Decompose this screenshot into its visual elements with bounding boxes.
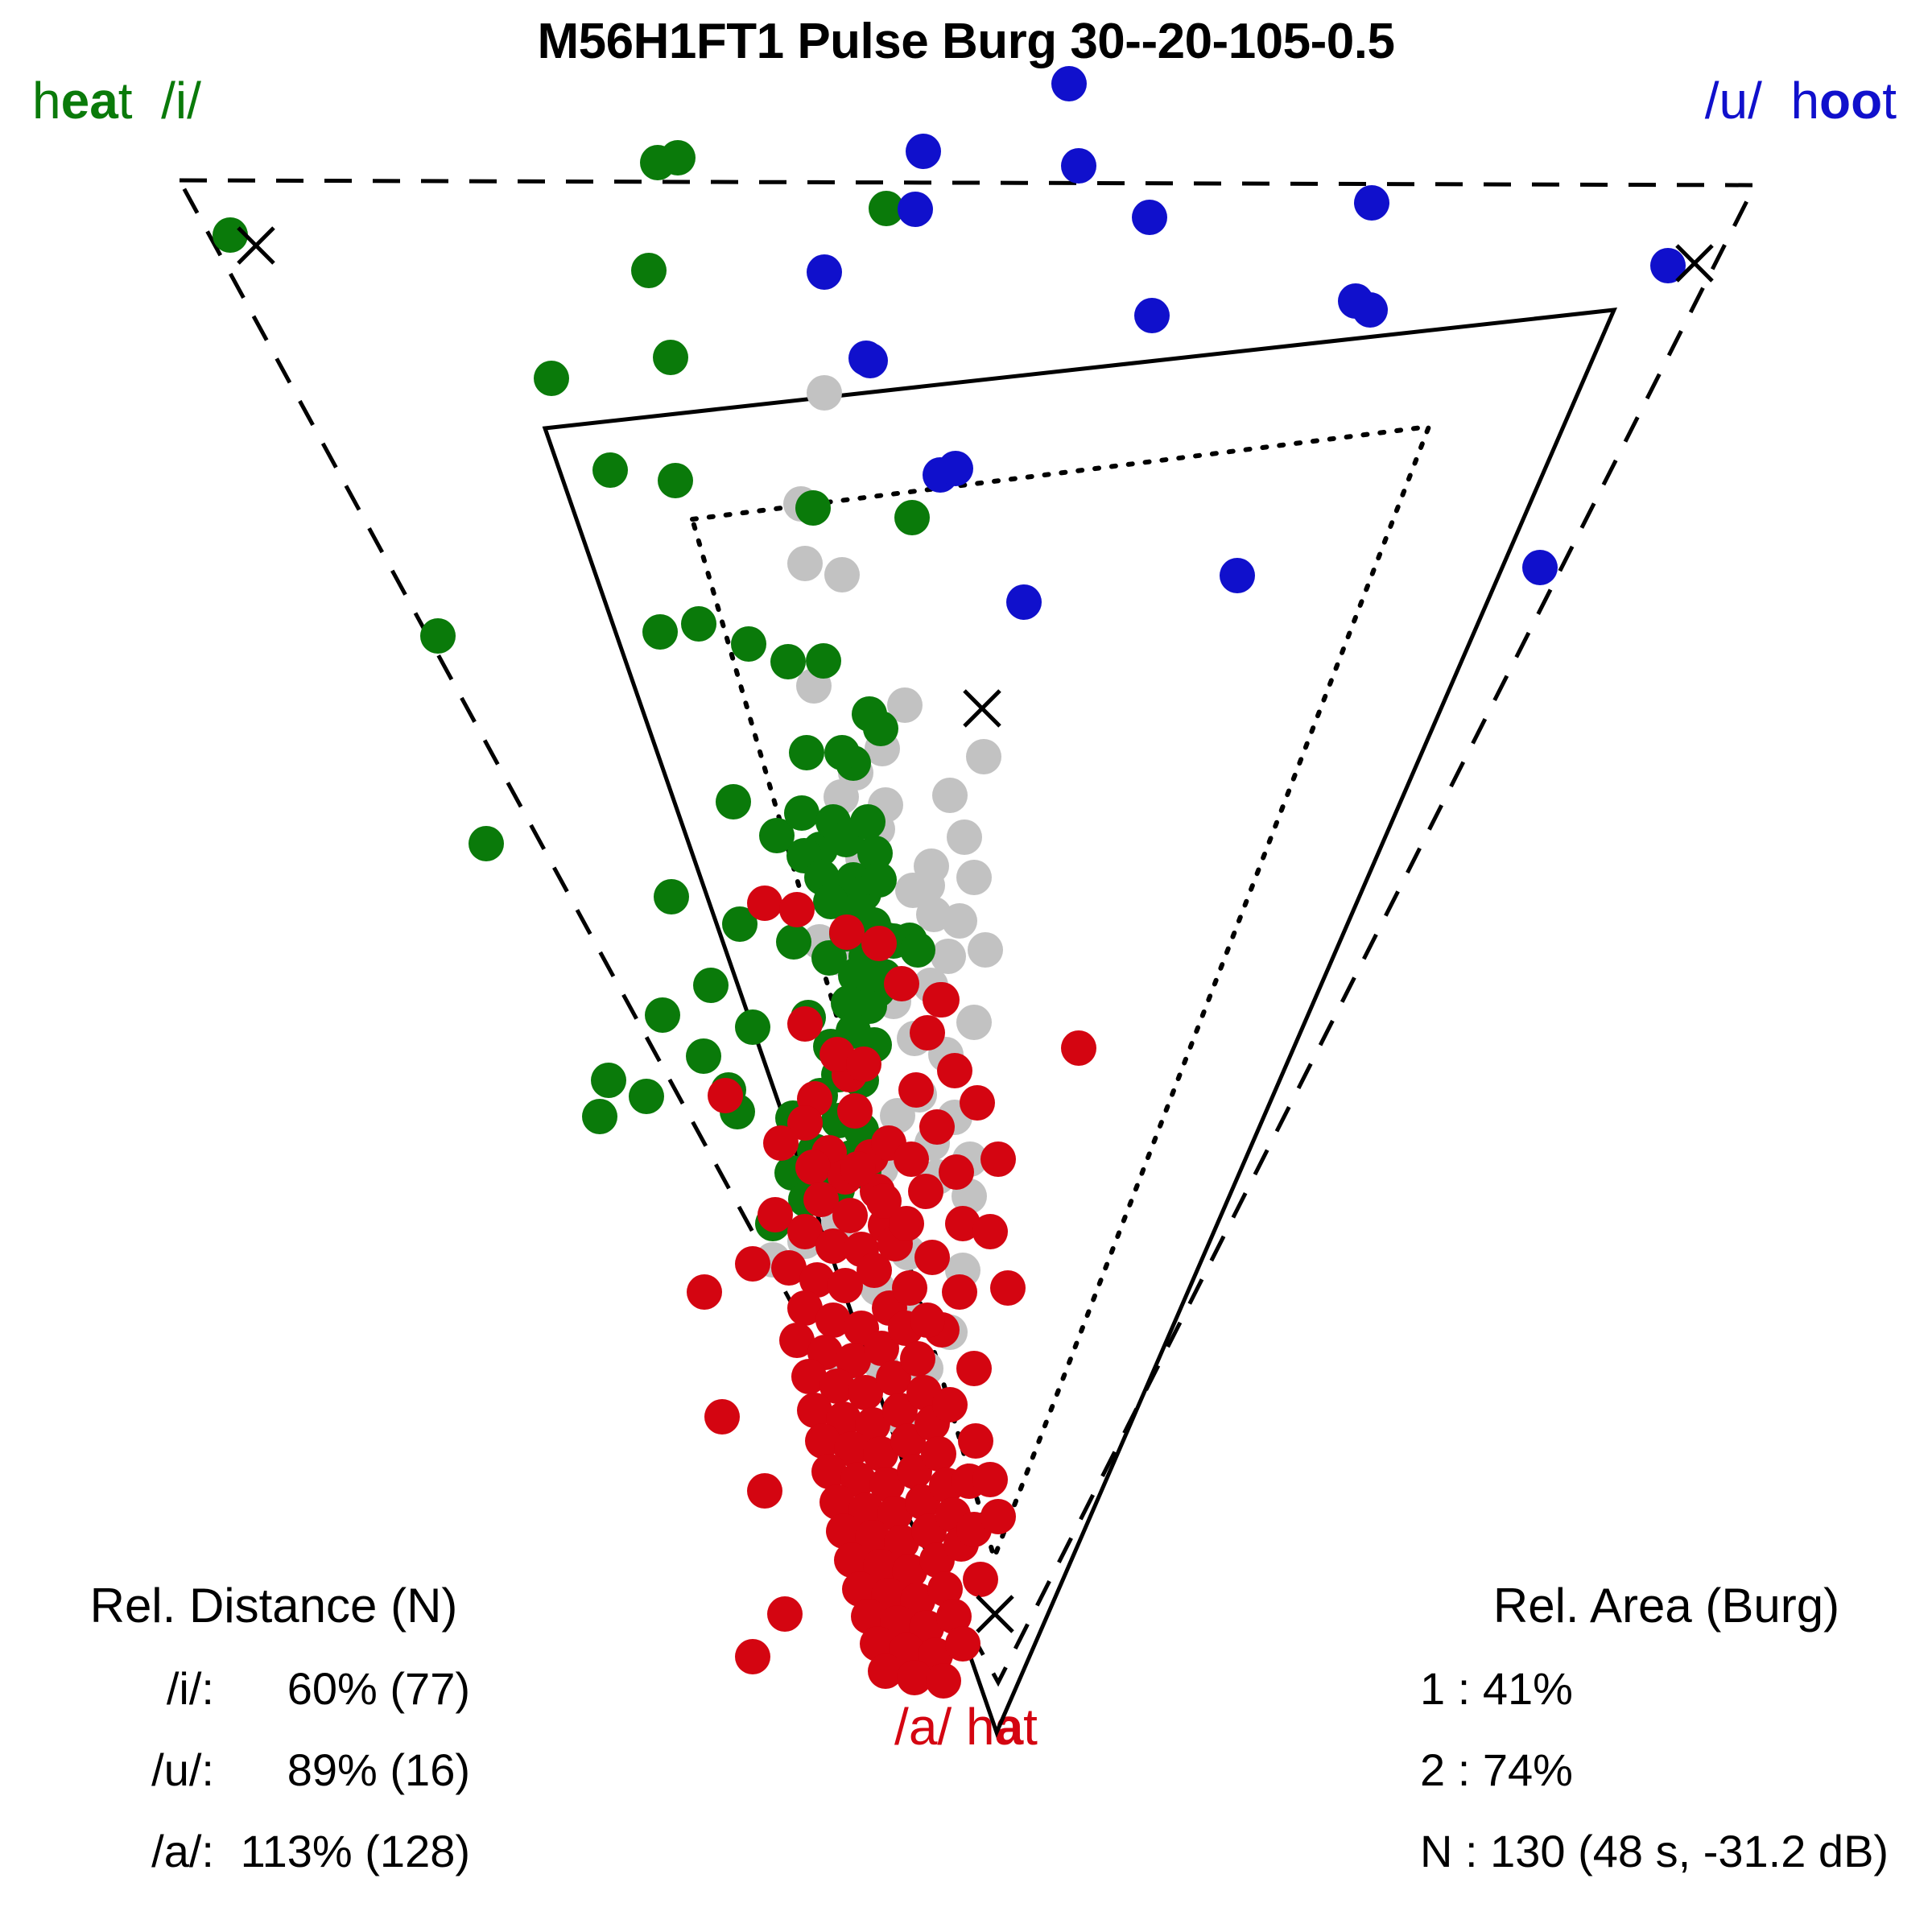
data-point [735, 1009, 770, 1045]
legend-distance-key: /u/: [77, 1744, 229, 1796]
data-point [592, 452, 628, 488]
data-point [939, 1154, 974, 1190]
data-point [980, 1141, 1016, 1177]
data-point [654, 879, 689, 914]
data-point [591, 1063, 626, 1098]
data-point [968, 932, 1003, 968]
data-point [582, 1099, 617, 1134]
data-point [758, 1197, 793, 1232]
data-point [787, 546, 823, 581]
data-point [660, 140, 696, 175]
data-point [824, 735, 860, 770]
data-point [972, 1462, 1008, 1497]
data-point [942, 903, 977, 939]
data-point [938, 451, 973, 486]
data-point [919, 1109, 955, 1145]
data-point [866, 1183, 902, 1219]
data-point [1051, 66, 1087, 101]
legend-distance-value: 60% (77) [229, 1662, 470, 1715]
data-point [776, 924, 811, 960]
data-point [926, 1663, 961, 1699]
data-point [972, 1214, 1008, 1249]
x-marker-a [977, 1596, 1013, 1632]
data-point [832, 1198, 868, 1233]
data-point [966, 739, 1001, 774]
data-point [958, 1423, 993, 1459]
data-point [990, 1270, 1026, 1306]
data-point [824, 557, 860, 592]
data-point [1132, 200, 1167, 235]
data-point [704, 1399, 740, 1435]
data-point [789, 735, 824, 770]
data-point [932, 1387, 968, 1422]
legend-area-row: 2 : 74% [1401, 1744, 1932, 1796]
data-points [213, 66, 1686, 1699]
data-point [784, 795, 819, 831]
data-point [956, 1005, 992, 1040]
legend-distance-row: /a/:113% (128) [8, 1825, 539, 1877]
legend-rel-area: Rel. Area (Burg) 1 : 41%2 : 74%N : 130 (… [1401, 1578, 1932, 1877]
legend-distance-row: /i/:60% (77) [8, 1662, 539, 1715]
legend-distance-row: /u/:89% (16) [8, 1744, 539, 1796]
data-point [852, 343, 888, 378]
legend-distance-value: 113% (128) [229, 1825, 470, 1877]
legend-area-row: 1 : 41% [1401, 1662, 1932, 1715]
data-point [658, 463, 693, 498]
data-point [763, 1125, 799, 1161]
data-point [807, 254, 842, 290]
data-point [1522, 550, 1558, 585]
data-point [914, 1240, 950, 1275]
vowel-space-figure: M56H1FT1 Pulse Burg 30--20-105-0.5 heat … [0, 0, 1932, 1932]
data-point [687, 1274, 722, 1310]
data-point [932, 778, 968, 813]
data-point [806, 643, 841, 679]
data-point [980, 1499, 1016, 1534]
legend-rel-distance-heading: Rel. Distance (N) [8, 1578, 539, 1633]
data-point [1061, 1030, 1096, 1066]
data-point [807, 375, 842, 411]
data-point [960, 1085, 995, 1121]
data-point [924, 982, 960, 1018]
data-point [747, 885, 782, 921]
data-point [937, 1053, 972, 1088]
legend-rel-distance-rows: /i/:60% (77)/u/:89% (16)/a/:113% (128) [8, 1662, 539, 1877]
data-point [779, 892, 815, 927]
data-point [963, 1562, 998, 1597]
data-point [747, 1473, 782, 1509]
data-point [795, 490, 831, 526]
data-point [840, 1151, 876, 1187]
data-point [861, 926, 897, 961]
data-point [910, 1015, 945, 1051]
data-point [863, 711, 898, 746]
data-point [681, 606, 716, 642]
data-point [716, 784, 751, 819]
data-point [795, 1150, 831, 1185]
data-point [735, 1246, 770, 1282]
data-point [945, 1626, 980, 1662]
data-point [213, 217, 248, 253]
data-point [693, 968, 729, 1003]
data-point [787, 1006, 823, 1042]
data-point [846, 1046, 881, 1082]
data-point [1354, 185, 1389, 221]
data-point [921, 1436, 956, 1472]
data-point [861, 862, 897, 898]
data-point [942, 1274, 977, 1310]
data-point [1352, 292, 1388, 328]
legend-distance-value: 89% (16) [229, 1744, 470, 1796]
data-point [884, 966, 919, 1001]
data-point [708, 1078, 743, 1113]
legend-distance-key: /a/: [77, 1825, 229, 1877]
data-point [898, 192, 933, 227]
data-point [645, 997, 680, 1033]
data-point [642, 614, 678, 650]
data-point [629, 1079, 664, 1114]
data-point [829, 914, 865, 950]
data-point [956, 1351, 992, 1386]
x-marker-center [964, 691, 1000, 726]
data-point [900, 1341, 935, 1377]
data-point [686, 1038, 721, 1074]
series-hoot [807, 66, 1686, 620]
data-point [898, 1072, 934, 1108]
data-point [956, 860, 992, 895]
triangle-outlines [180, 180, 1755, 1732]
data-point [908, 1174, 943, 1209]
data-point [1220, 558, 1255, 593]
data-point [894, 1141, 929, 1177]
data-point [1006, 584, 1042, 620]
data-point [770, 644, 806, 679]
data-point [947, 819, 982, 855]
legend-rel-area-heading: Rel. Area (Burg) [1401, 1578, 1932, 1633]
data-point [469, 826, 504, 861]
data-point [892, 1270, 927, 1306]
data-point [850, 804, 885, 840]
data-point [534, 361, 569, 396]
data-point [767, 1596, 803, 1632]
legend-rel-distance: Rel. Distance (N) /i/:60% (77)/u/:89% (1… [8, 1578, 539, 1877]
data-point [910, 868, 945, 903]
data-point [631, 253, 667, 288]
data-point [1061, 148, 1096, 184]
legend-area-row: N : 130 (48 s, -31.2 dB) [1401, 1825, 1932, 1877]
data-point [653, 340, 688, 375]
data-point [910, 1302, 945, 1338]
data-point [906, 134, 941, 169]
legend-distance-key: /i/: [77, 1662, 229, 1715]
data-point [837, 1093, 873, 1129]
data-point [894, 500, 930, 535]
data-point [735, 1639, 770, 1674]
centroid-markers [238, 228, 1712, 1632]
data-point [420, 618, 456, 654]
measured-area-triangle-2 [545, 310, 1614, 1732]
data-point [1134, 298, 1170, 333]
data-point [731, 626, 766, 662]
data-point [931, 939, 966, 974]
legend-rel-area-rows: 1 : 41%2 : 74%N : 130 (48 s, -31.2 dB) [1401, 1662, 1932, 1877]
data-point [900, 932, 935, 968]
